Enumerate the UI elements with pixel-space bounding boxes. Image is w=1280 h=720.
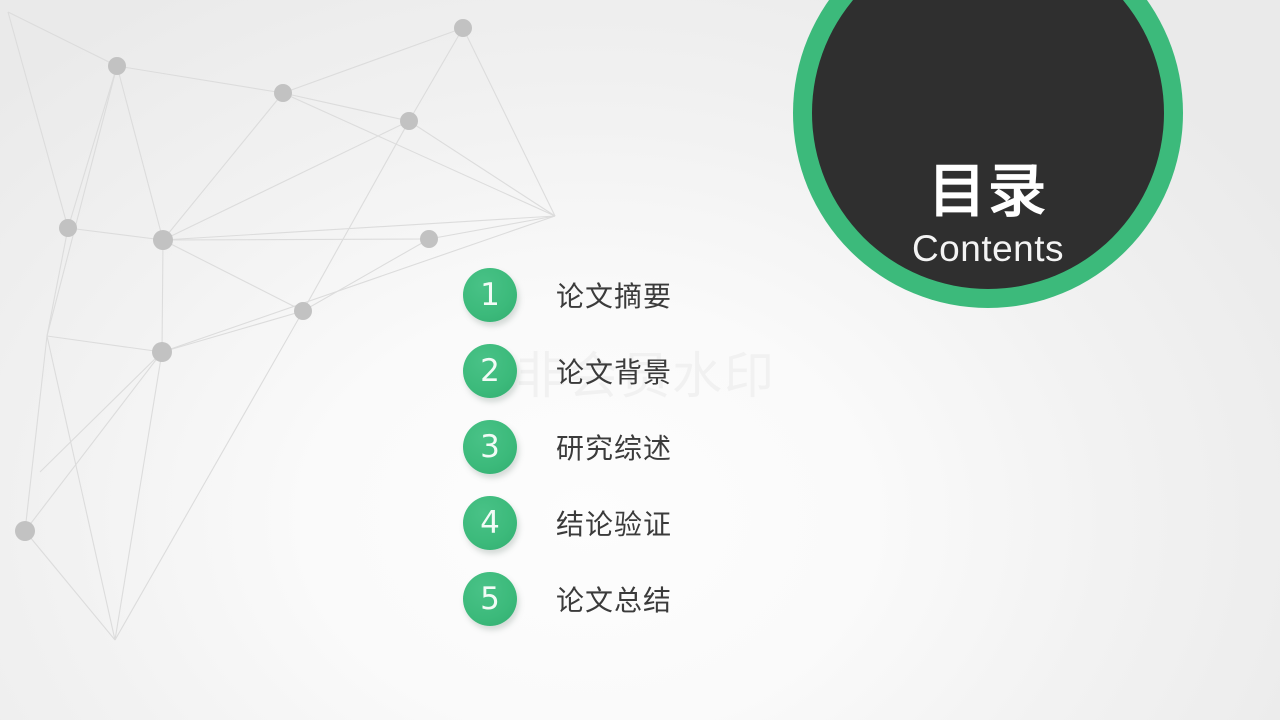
network-edge — [117, 66, 283, 93]
page-title: 目录 — [928, 160, 1048, 223]
network-edge — [25, 336, 47, 531]
network-node — [108, 57, 126, 75]
contents-item-label: 论文总结 — [556, 579, 672, 619]
contents-item[interactable]: 1论文摘要 — [463, 268, 672, 322]
title-circle-inner: 目录 Contents — [812, 0, 1164, 289]
contents-item-label: 研究综述 — [556, 427, 672, 467]
page-subtitle: Contents — [912, 225, 1064, 273]
network-edge — [47, 228, 68, 336]
network-edge — [283, 28, 463, 93]
title-circle-ring: 目录 Contents — [793, 0, 1183, 308]
network-edge — [68, 228, 163, 240]
slide-canvas: 非会员水印 目录 Contents 1论文摘要2论文背景3研究综述4结论验证5论… — [0, 0, 1280, 720]
contents-item[interactable]: 3研究综述 — [463, 420, 672, 474]
network-edge — [303, 121, 409, 311]
network-node — [153, 230, 173, 250]
network-node — [294, 302, 312, 320]
network-edge — [409, 121, 555, 216]
network-edge — [115, 352, 162, 640]
contents-item-number: 1 — [480, 280, 500, 311]
network-edge — [163, 93, 283, 240]
contents-item[interactable]: 5论文总结 — [463, 572, 672, 626]
network-edge — [429, 216, 555, 239]
network-edge — [68, 66, 117, 228]
network-edge — [163, 240, 303, 311]
contents-item-label: 结论验证 — [556, 503, 672, 543]
network-node — [152, 342, 172, 362]
contents-item-number-badge[interactable]: 2 — [463, 344, 517, 398]
network-edge — [117, 66, 163, 240]
contents-item-number: 2 — [480, 356, 500, 387]
network-edge — [303, 239, 429, 311]
contents-item-number-badge[interactable]: 3 — [463, 420, 517, 474]
network-edge — [47, 336, 162, 352]
network-edge — [163, 121, 409, 240]
network-node — [274, 84, 292, 102]
contents-item[interactable]: 2论文背景 — [463, 344, 672, 398]
network-edge — [283, 93, 409, 121]
network-edge — [162, 240, 163, 352]
network-edge — [40, 352, 162, 472]
network-node — [59, 219, 77, 237]
network-edge — [163, 216, 555, 240]
contents-item[interactable]: 4结论验证 — [463, 496, 672, 550]
network-node — [400, 112, 418, 130]
network-node — [15, 521, 35, 541]
contents-item-label: 论文背景 — [556, 351, 672, 391]
network-edge — [283, 93, 555, 216]
network-edge — [162, 311, 303, 352]
network-edge — [25, 531, 115, 640]
network-nodes — [15, 19, 472, 541]
network-edge — [47, 66, 117, 336]
network-node — [420, 230, 438, 248]
contents-item-number: 5 — [480, 584, 500, 615]
network-node — [454, 19, 472, 37]
contents-item-number-badge[interactable]: 5 — [463, 572, 517, 626]
network-edge — [8, 12, 68, 228]
contents-item-number-badge[interactable]: 4 — [463, 496, 517, 550]
network-edge — [163, 239, 429, 240]
contents-item-number-badge[interactable]: 1 — [463, 268, 517, 322]
network-edge — [409, 28, 463, 121]
contents-item-label: 论文摘要 — [556, 275, 672, 315]
contents-list: 1论文摘要2论文背景3研究综述4结论验证5论文总结 — [463, 268, 672, 648]
network-edge — [25, 352, 162, 531]
network-edge — [115, 311, 303, 640]
network-edge — [8, 12, 117, 66]
network-edge — [463, 28, 555, 216]
contents-item-number: 4 — [480, 508, 500, 539]
contents-item-number: 3 — [480, 432, 500, 463]
network-edge — [47, 336, 115, 640]
